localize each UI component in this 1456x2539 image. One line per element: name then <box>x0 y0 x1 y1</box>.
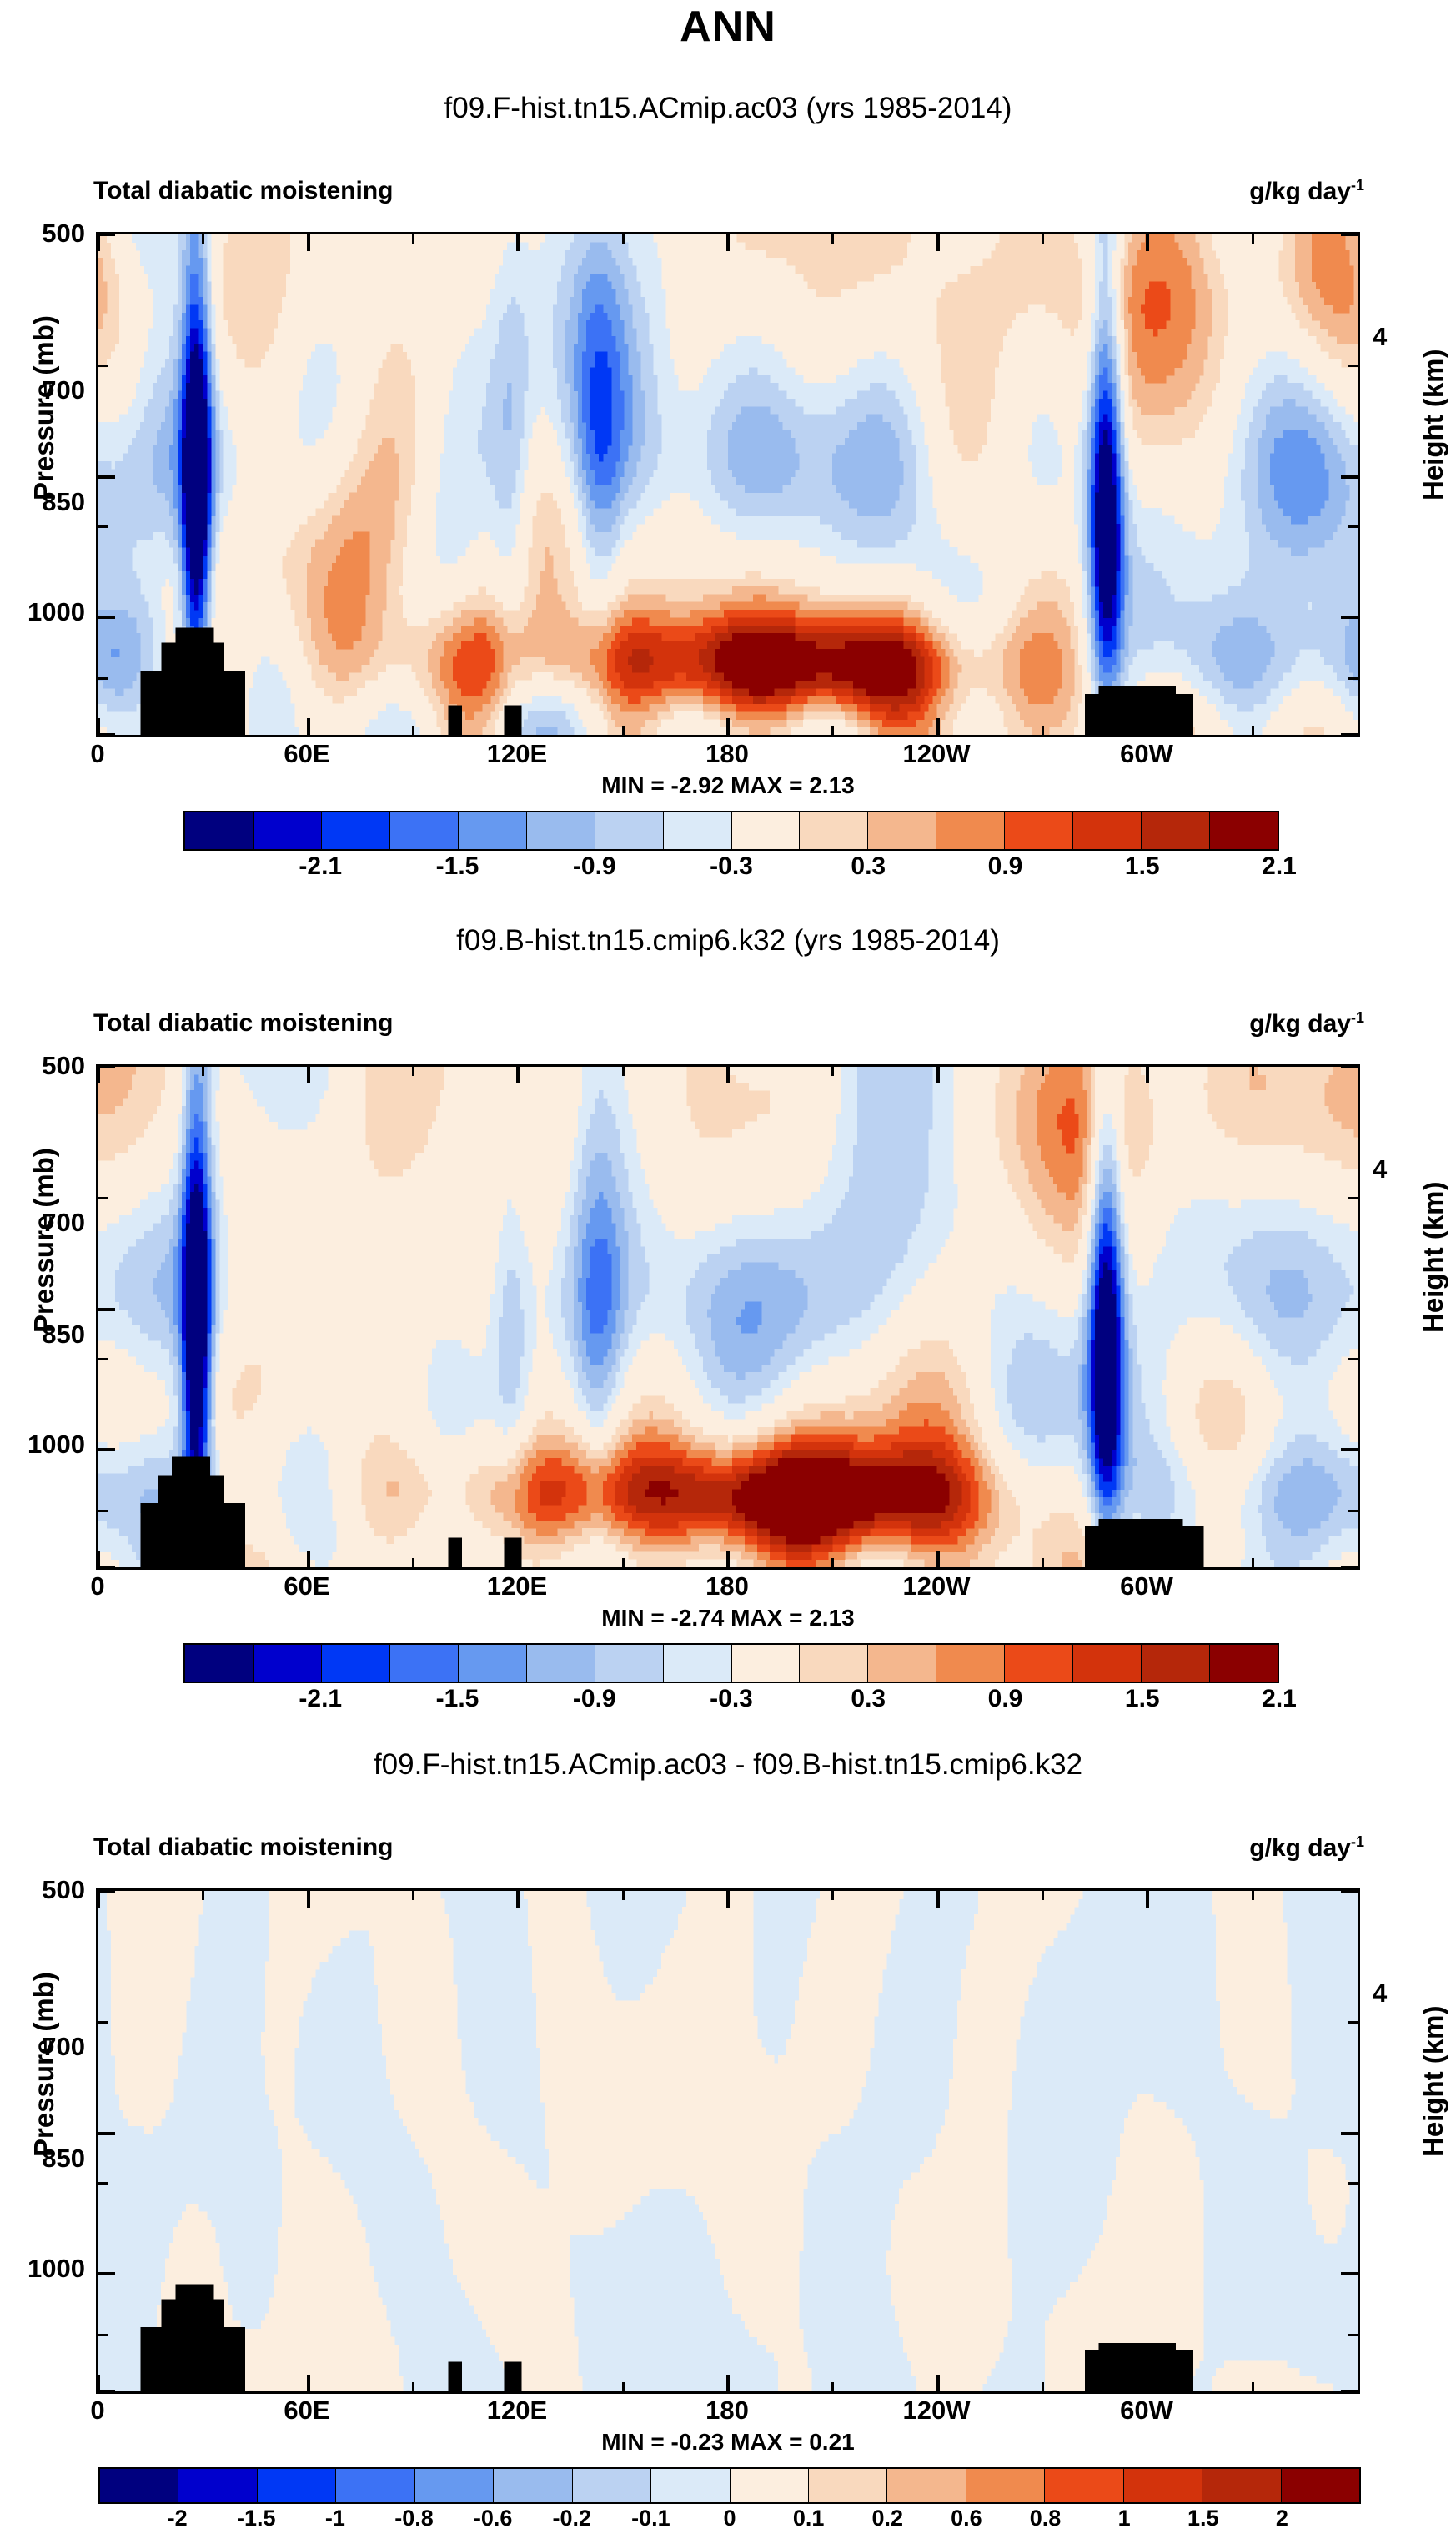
colorbar-cell <box>322 812 390 849</box>
panel-1-y-axis-label-right: Height (km) <box>1418 349 1449 501</box>
panel-3-plot-area-ytickmark <box>1341 2272 1358 2275</box>
colorbar-cell <box>459 812 527 849</box>
panel-1-plot-area-xtickmark-minor <box>1042 234 1044 244</box>
colorbar-cell <box>966 2469 1045 2502</box>
panel-1-ytick-700: 700 <box>0 375 85 405</box>
panel-1-plot-area-ytickmark-minor <box>1348 525 1358 528</box>
panel-2-plot-area-xtickmark-minor <box>831 1067 834 1076</box>
panel-1-plot-area-ytickmark <box>98 733 115 737</box>
panel-2-plot-area-xtickmark-minor <box>622 1558 625 1567</box>
colorbar-tick-label: 2 <box>1244 2506 1319 2531</box>
colorbar-cell <box>664 812 732 849</box>
colorbar-cell <box>390 812 459 849</box>
colorbar-tick-label: 0.1 <box>771 2506 846 2531</box>
colorbar-tick-label: 0.2 <box>850 2506 925 2531</box>
panel-2-plot-area-ytickmark <box>98 1065 115 1068</box>
panel-2-ytick-700: 700 <box>0 1208 85 1238</box>
panel-1-plot-area-ytickmark <box>1341 616 1358 619</box>
panel-3-plot-area-xtickmark-minor <box>1042 2382 1044 2391</box>
panel-3-plot-area-xtickmark <box>307 2375 310 2391</box>
topography-mask <box>448 1538 462 1567</box>
panel-1-plot-area-xtickmark-minor <box>202 726 204 735</box>
panel-1-colorbar[interactable] <box>183 811 1279 851</box>
panel-3-plot-area-xtickmark <box>97 1891 100 1908</box>
panel-1-minmax: MIN = -2.92 MAX = 2.13 <box>0 772 1456 799</box>
panel-3-xtick-120E: 120E <box>467 2396 567 2426</box>
panel-1-ytick-1000: 1000 <box>0 597 85 627</box>
panel-1-ytick-right-4: 4 <box>1373 322 1423 352</box>
panel-2-plot-area-ytickmark-minor <box>98 1358 108 1360</box>
panel-2-plot-area-xtickmark <box>726 1551 730 1567</box>
panel-1-xtick-60W: 60W <box>1097 739 1197 769</box>
panel-2-plot-area-xtickmark-minor <box>831 1558 834 1567</box>
panel-3-xtick-0: 0 <box>48 2396 148 2426</box>
colorbar-cell <box>100 2469 178 2502</box>
panel-1-plot-area-xtickmark-minor <box>831 726 834 735</box>
colorbar-cell <box>322 1645 390 1682</box>
panel-2-plot-area-xtickmark-minor <box>1252 1558 1254 1567</box>
topography-mask <box>1099 686 1176 735</box>
panel-2-plot-area-ytickmark <box>98 1566 115 1569</box>
colorbar-cell <box>336 2469 414 2502</box>
colorbar-tick-label: 1.5 <box>1166 2506 1241 2531</box>
panel-1-plot-area-ytickmark-minor <box>1348 365 1358 367</box>
colorbar-tick-label: -2.1 <box>274 1685 366 1713</box>
colorbar-cell <box>1005 1645 1073 1682</box>
panel-3-plot-area-xtickmark <box>936 2375 940 2391</box>
panel-1-plot-area-xtickmark-minor <box>202 234 204 244</box>
panel-1-plot-area-ytickmark-minor <box>98 365 108 367</box>
panel-2-plot-area-ytickmark <box>1341 1308 1358 1311</box>
topography-mask <box>448 2362 462 2391</box>
panel-3-y-axis-label: Pressure (mb) <box>28 1972 60 2157</box>
panel-2-plot-area-xtickmark <box>307 1067 310 1083</box>
panel-1-plot-area-xtickmark <box>1146 718 1149 735</box>
panel-3-plot-area-xtickmark-minor <box>412 2382 414 2391</box>
colorbar-cell <box>868 1645 936 1682</box>
panel-3-plot-area-xtickmark-minor <box>831 2382 834 2391</box>
panel-3-plot-area-ytickmark-minor <box>1348 2334 1358 2336</box>
panel-3-plot-area-ytickmark-minor <box>98 2021 108 2024</box>
panel-1-xtick-0: 0 <box>48 739 148 769</box>
panel-3-colorbar-labels: -2-1.5-1-0.8-0.6-0.2-0.100.10.20.60.811.… <box>98 2506 1358 2539</box>
panel-3-units-exponent: -1 <box>1351 1833 1364 1850</box>
panel-1-plot-area-ytickmark <box>98 616 115 619</box>
panel-3-xtick-60E: 60E <box>257 2396 357 2426</box>
panel-1-units-text: g/kg day <box>1249 178 1351 205</box>
panel-1-plot-area-xtickmark-minor <box>622 234 625 244</box>
colorbar-cell <box>1073 812 1142 849</box>
panel-3-plot-area-xtickmark <box>1146 1891 1149 1908</box>
panel-1-plot-area[interactable] <box>96 232 1360 737</box>
panel-2-plot-area-xtickmark <box>516 1067 520 1083</box>
panel-2-plot-area-xtickmark <box>516 1551 520 1567</box>
colorbar-cell <box>1073 1645 1142 1682</box>
panel-1-xtick-120E: 120E <box>467 739 567 769</box>
panel-1-plot-area-ytickmark <box>1341 733 1358 737</box>
panel-2-plot-area-xtickmark-minor <box>1252 1067 1254 1076</box>
panel-2-plot-area-ytickmark-minor <box>1348 1197 1358 1199</box>
colorbar-tick-label: 0.3 <box>822 1685 914 1713</box>
panel-1-y-axis-label: Pressure (mb) <box>28 315 60 500</box>
panel-1-plot-area-xtickmark-minor <box>831 234 834 244</box>
panel-3-plot-area-xtickmark <box>516 1891 520 1908</box>
colorbar-cell <box>527 812 595 849</box>
panel-1-plot-area-xtickmark <box>936 234 940 251</box>
panel-3-plot-area-ytickmark <box>98 2132 115 2135</box>
colorbar-cell <box>390 1645 459 1682</box>
panel-2-plot-area-ytickmark <box>98 1448 115 1451</box>
colorbar-cell <box>527 1645 595 1682</box>
panel-3-plot-area-ytickmark <box>98 1889 115 1893</box>
panel-1-field-label: Total diabatic moistening <box>93 177 393 205</box>
colorbar-tick-label: -0.8 <box>377 2506 452 2531</box>
colorbar-cell <box>1210 1645 1278 1682</box>
colorbar-tick-label: -1.5 <box>412 1685 504 1713</box>
panel-3-ytick-500: 500 <box>0 1875 85 1905</box>
colorbar-tick-label: 2.1 <box>1233 1685 1325 1713</box>
panel-3-xtick-60W: 60W <box>1097 2396 1197 2426</box>
colorbar-cell <box>651 2469 730 2502</box>
panel-1-plot-area-ytickmark-minor <box>98 677 108 680</box>
panel-2-plot-area-xtickmark-minor <box>412 1558 414 1567</box>
panel-2-xtick-60W: 60W <box>1097 1571 1197 1601</box>
panel-2-ytick-850: 850 <box>0 1320 85 1350</box>
colorbar-cell <box>809 2469 887 2502</box>
panel-3-plot-area-xtickmark <box>307 1891 310 1908</box>
colorbar-tick-label: -0.6 <box>455 2506 530 2531</box>
panel-2-plot-area-xtickmark <box>726 1067 730 1083</box>
panel-2-plot-area-xtickmark <box>1146 1067 1149 1083</box>
panel-3-plot-area-xtickmark-minor <box>202 1891 204 1900</box>
panel-2-plot-area-ytickmark-minor <box>1348 1510 1358 1512</box>
panel-3-plot-area-xtickmark-minor <box>1252 1891 1254 1900</box>
panel-3-plot-area-ytickmark <box>98 2272 115 2275</box>
colorbar-tick-label: 0.6 <box>929 2506 1004 2531</box>
colorbar-cell <box>415 2469 494 2502</box>
panel-2-plot-area-ytickmark-minor <box>98 1197 108 1199</box>
colorbar-cell <box>595 1645 664 1682</box>
colorbar-cell <box>595 812 664 849</box>
panel-1-plot-area-xtickmark <box>97 718 100 735</box>
panel-1-plot-area-xtickmark <box>307 234 310 251</box>
colorbar-tick-label: -0.9 <box>549 1685 640 1713</box>
panel-3-plot-area-ytickmark <box>1341 2132 1358 2135</box>
panel-3-plot-area-xtickmark-minor <box>202 2382 204 2391</box>
panel-2-plot-area-xtickmark-minor <box>202 1558 204 1567</box>
panel-3-plot-area[interactable] <box>96 1888 1360 2394</box>
colorbar-cell <box>1142 812 1210 849</box>
panel-2-plot-area[interactable] <box>96 1064 1360 1570</box>
panel-3-y-axis-label-right: Height (km) <box>1418 2006 1449 2158</box>
panel-1-plot-area-xtickmark <box>1146 234 1149 251</box>
panel-1-plot-area-ytickmark-minor <box>98 525 108 528</box>
colorbar-cell <box>1142 1645 1210 1682</box>
panel-3-units-text: g/kg day <box>1249 1834 1351 1862</box>
panel-1-title: f09.F-hist.tn15.ACmip.ac03 (yrs 1985-201… <box>0 92 1456 125</box>
colorbar-cell <box>185 812 254 849</box>
panel-3-title: f09.F-hist.tn15.ACmip.ac03 - f09.B-hist.… <box>0 1748 1456 1782</box>
panel-1-plot-area-xtickmark-minor <box>412 726 414 735</box>
colorbar-cell <box>887 2469 966 2502</box>
panel-3-plot-area-xtickmark-minor <box>622 1891 625 1900</box>
colorbar-cell <box>1202 2469 1281 2502</box>
colorbar-cell <box>800 812 868 849</box>
topography-mask <box>172 1456 210 1567</box>
colorbar-cell <box>254 1645 322 1682</box>
panel-3: f09.F-hist.tn15.ACmip.ac03 - f09.B-hist.… <box>0 1735 1456 2481</box>
panel-2-plot-area-xtickmark <box>307 1551 310 1567</box>
panel-2-ytick-500: 500 <box>0 1051 85 1081</box>
topography-mask <box>175 2284 213 2391</box>
panel-2-plot-area-ytickmark-minor <box>98 1510 108 1512</box>
colorbar-cell <box>1045 2469 1123 2502</box>
panel-3-plot-area-ytickmark-minor <box>1348 2182 1358 2185</box>
panel-2-plot-area-ytickmark <box>98 1308 115 1311</box>
figure-page: ANN f09.F-hist.tn15.ACmip.ac03 (yrs 1985… <box>0 0 1456 2481</box>
colorbar-cell <box>1282 2469 1359 2502</box>
colorbar-tick-label: 1.5 <box>1097 1685 1188 1713</box>
panel-3-ytick-right-4: 4 <box>1373 1978 1423 2009</box>
panel-1-plot-area-xtickmark <box>726 718 730 735</box>
panel-3-plot-area-xtickmark <box>97 2375 100 2391</box>
panel-2-y-axis-label: Pressure (mb) <box>28 1148 60 1333</box>
colorbar-tick-label: 0 <box>692 2506 767 2531</box>
colorbar-tick-label: -0.3 <box>685 1685 777 1713</box>
panel-1-plot-area-xtickmark-minor <box>1042 726 1044 735</box>
panel-1-ytick-500: 500 <box>0 219 85 249</box>
panel-3-field-label: Total diabatic moistening <box>93 1833 393 1862</box>
colorbar-tick-label: 0.9 <box>960 1685 1052 1713</box>
panel-3-minmax: MIN = -0.23 MAX = 0.21 <box>0 2429 1456 2456</box>
colorbar-tick-label: 0.8 <box>1008 2506 1083 2531</box>
panel-3-plot-area-xtickmark <box>1146 2375 1149 2391</box>
colorbar-tick-label: -0.1 <box>613 2506 688 2531</box>
panel-2-xtick-60E: 60E <box>257 1571 357 1601</box>
panel-3-units: g/kg day-1 <box>1249 1833 1364 1863</box>
panel-2-plot-area-ytickmark-minor <box>1348 1358 1358 1360</box>
panel-1-plot-area-xtickmark <box>516 234 520 251</box>
colorbar-cell <box>664 1645 732 1682</box>
panel-2-plot-area-ytickmark <box>1341 1065 1358 1068</box>
panel-1-ytick-850: 850 <box>0 487 85 517</box>
panel-2-plot-area-xtickmark <box>97 1551 100 1567</box>
colorbar-tick-label: 1 <box>1087 2506 1162 2531</box>
colorbar-cell <box>1124 2469 1202 2502</box>
panel-3-ytick-700: 700 <box>0 2032 85 2062</box>
panel-3-colorbar[interactable] <box>98 2467 1361 2504</box>
panel-1-plot-area-xtickmark-minor <box>622 726 625 735</box>
panel-2-plot-area-xtickmark-minor <box>622 1067 625 1076</box>
topography-mask <box>1099 1519 1183 1567</box>
panel-1-plot-area-ytickmark <box>1341 233 1358 236</box>
panel-3-plot-area-ytickmark <box>1341 1889 1358 1893</box>
colorbar-cell <box>178 2469 257 2502</box>
panel-3-plot-area-ytickmark-minor <box>1348 2021 1358 2024</box>
colorbar-cell <box>731 2469 809 2502</box>
panel-2-units-exponent: -1 <box>1351 1009 1364 1026</box>
colorbar-cell <box>459 1645 527 1682</box>
colorbar-tick-label: -0.2 <box>535 2506 610 2531</box>
colorbar-cell <box>732 812 801 849</box>
panel-1-plot-area-xtickmark <box>726 234 730 251</box>
panel-2-xtick-120E: 120E <box>467 1571 567 1601</box>
panel-1-plot-area-xtickmark <box>516 718 520 735</box>
panel-3-plot-area-contour-field <box>98 1891 1358 2391</box>
panel-2-minmax: MIN = -2.74 MAX = 2.13 <box>0 1605 1456 1631</box>
panel-1-plot-area-xtickmark-minor <box>412 234 414 244</box>
panel-1-units: g/kg day-1 <box>1249 177 1364 206</box>
panel-2-xtick-180: 180 <box>677 1571 777 1601</box>
panel-2-title: f09.B-hist.tn15.cmip6.k32 (yrs 1985-2014… <box>0 924 1456 958</box>
panel-2-xtick-120W: 120W <box>886 1571 987 1601</box>
panel-1-plot-area-xtickmark-minor <box>1252 726 1254 735</box>
panel-3-plot-area-ytickmark <box>98 2390 115 2393</box>
panel-3-plot-area-xtickmark-minor <box>831 1891 834 1900</box>
colorbar-cell <box>254 812 322 849</box>
colorbar-cell <box>800 1645 868 1682</box>
panel-1-plot-area-ytickmark-minor <box>1348 677 1358 680</box>
panel-3-plot-area-xtickmark <box>726 1891 730 1908</box>
topography-mask <box>448 706 462 735</box>
panel-1-plot-area-contour-field <box>98 234 1358 735</box>
panel-2-ytick-right-4: 4 <box>1373 1154 1423 1184</box>
panel-2-plot-area-xtickmark <box>936 1067 940 1083</box>
panel-2-plot-area-ytickmark <box>1341 1448 1358 1451</box>
colorbar-cell <box>936 1645 1005 1682</box>
panel-2-plot-area-xtickmark <box>97 1067 100 1083</box>
panel-1-plot-area-ytickmark <box>1341 475 1358 479</box>
panel-2-xtick-0: 0 <box>48 1571 148 1601</box>
panel-2-plot-area-xtickmark-minor <box>202 1067 204 1076</box>
panel-2-field-label: Total diabatic moistening <box>93 1009 393 1038</box>
panel-3-plot-area-xtickmark-minor <box>1042 1891 1044 1900</box>
panel-2-plot-area-xtickmark <box>936 1551 940 1567</box>
panel-2-plot-area-ytickmark <box>1341 1566 1358 1569</box>
panel-3-ytick-850: 850 <box>0 2144 85 2174</box>
panel-3-plot-area-xtickmark <box>516 2375 520 2391</box>
topography-mask <box>1099 2343 1176 2391</box>
panel-1-plot-area-xtickmark <box>97 234 100 251</box>
panel-2-colorbar-labels: -2.1-1.5-0.9-0.30.30.91.52.1 <box>183 1685 1276 1718</box>
panel-3-ytick-1000: 1000 <box>0 2254 85 2284</box>
panel-3-plot-area-xtickmark-minor <box>412 1891 414 1900</box>
panel-3-xtick-180: 180 <box>677 2396 777 2426</box>
panel-2-plot-area-xtickmark <box>1146 1551 1149 1567</box>
panel-1-plot-area-xtickmark-minor <box>1252 234 1254 244</box>
panel-2-plot-area-xtickmark-minor <box>1042 1558 1044 1567</box>
panel-3-plot-area-ytickmark <box>1341 2390 1358 2393</box>
panel-2-units: g/kg day-1 <box>1249 1009 1364 1038</box>
panel-3-plot-area-xtickmark <box>936 1891 940 1908</box>
panel-1-xtick-60E: 60E <box>257 739 357 769</box>
panel-3-plot-area-xtickmark <box>726 2375 730 2391</box>
colorbar-cell <box>185 1645 254 1682</box>
colorbar-cell <box>1005 812 1073 849</box>
panel-2: f09.B-hist.tn15.cmip6.k32 (yrs 1985-2014… <box>0 867 1456 1735</box>
colorbar-cell <box>494 2469 572 2502</box>
colorbar-cell <box>258 2469 336 2502</box>
colorbar-cell <box>936 812 1005 849</box>
panel-1-xtick-120W: 120W <box>886 739 987 769</box>
colorbar-cell <box>868 812 936 849</box>
panel-1: f09.F-hist.tn15.ACmip.ac03 (yrs 1985-201… <box>0 0 1456 867</box>
panel-3-plot-area-ytickmark-minor <box>98 2334 108 2336</box>
colorbar-cell <box>573 2469 651 2502</box>
panel-3-plot-area-ytickmark-minor <box>98 2182 108 2185</box>
panel-2-units-text: g/kg day <box>1249 1010 1351 1038</box>
colorbar-tick-label: -1.5 <box>218 2506 294 2531</box>
panel-2-ytick-1000: 1000 <box>0 1430 85 1460</box>
panel-3-xtick-120W: 120W <box>886 2396 987 2426</box>
panel-1-units-exponent: -1 <box>1351 177 1364 194</box>
panel-2-plot-area-xtickmark-minor <box>412 1067 414 1076</box>
panel-1-plot-area-xtickmark <box>307 718 310 735</box>
panel-3-plot-area-xtickmark-minor <box>1252 2382 1254 2391</box>
panel-1-xtick-180: 180 <box>677 739 777 769</box>
panel-1-plot-area-xtickmark <box>936 718 940 735</box>
panel-1-plot-area-ytickmark <box>98 233 115 236</box>
panel-2-plot-area-contour-field <box>98 1067 1358 1567</box>
colorbar-tick-label: -2 <box>140 2506 215 2531</box>
colorbar-cell <box>1210 812 1278 849</box>
topography-mask <box>175 627 213 735</box>
colorbar-cell <box>732 1645 801 1682</box>
panel-2-plot-area-xtickmark-minor <box>1042 1067 1044 1076</box>
panel-1-plot-area-ytickmark <box>98 475 115 479</box>
colorbar-tick-label: -1 <box>298 2506 373 2531</box>
panel-2-colorbar[interactable] <box>183 1643 1279 1683</box>
panel-3-plot-area-xtickmark-minor <box>622 2382 625 2391</box>
panel-2-y-axis-label-right: Height (km) <box>1418 1182 1449 1334</box>
